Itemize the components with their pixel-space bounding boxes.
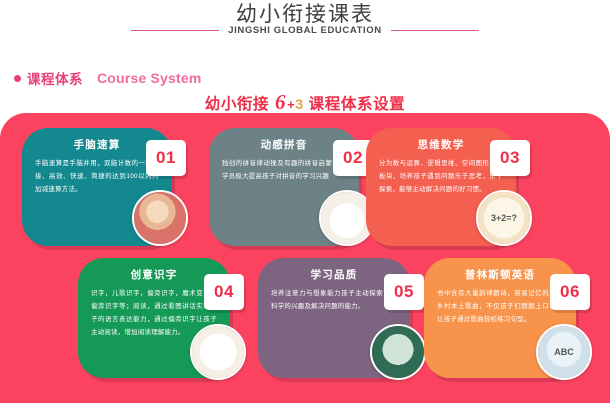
course-card[interactable]: 创意识字 识字，儿歌识字，偏旁识字，魔术变字，偏旁识字等；阅读，通过看图讲话实现… <box>78 258 258 378</box>
boy-thinking-photo <box>370 324 426 380</box>
card-number-badge: 06 <box>550 274 590 310</box>
course-card[interactable]: 手脑速算 手脑速算是手脑并用，双脑计数的一种直接、高效、快速、简捷的达到100以… <box>22 128 197 246</box>
card-number-badge: 01 <box>146 140 186 176</box>
bullet-dot-icon <box>14 75 21 82</box>
page-header: 幼小衔接课表 JINGSHI GLOBAL EDUCATION <box>0 0 610 48</box>
course-card[interactable]: 思维数学 分为数与运算、逻辑思维、空间图形三大板块，培养孩子遇到问题乐于思考，乐… <box>366 128 546 246</box>
course-card[interactable]: 动感拼音 独创的拼音律动操及有趣的拼音启蒙等教学员极大提高孩子对拼音的学习兴趣 … <box>209 128 384 246</box>
kids-abc-board-photo: ABC <box>536 324 592 380</box>
girl-counting-fingers-photo <box>132 190 188 246</box>
headline-six: 6 <box>274 90 287 114</box>
section-label-cn: 课程体系 <box>27 68 83 88</box>
course-card[interactable]: 学习品质 培养注意力与想象能力孩子主动探索自然科学的兴趣及解决问题的能力。 05 <box>258 258 438 378</box>
page-title: 幼小衔接课表 <box>0 0 610 28</box>
course-card[interactable]: 普林斯顿英语 书中含有大量韵律朗诗，容易记忆的美国乡村本土歌曲，不仅孩子们朗朗上… <box>424 258 604 378</box>
rule-left-divider <box>131 30 219 31</box>
section-label: 课程体系 Course System <box>14 68 202 88</box>
card-number-badge: 04 <box>204 274 244 310</box>
abc-label: ABC <box>554 347 574 357</box>
fox-character-card-photo <box>190 324 246 380</box>
headline-suffix: 课程体系设置 <box>309 96 406 113</box>
card-number-badge: 05 <box>384 274 424 310</box>
kids-math-3plus2-photo: 3+2=? <box>476 190 532 246</box>
brand-subtitle: JINGSHI GLOBAL EDUCATION <box>228 25 381 36</box>
section-label-en: Course System <box>97 70 202 86</box>
rule-right-divider <box>391 30 479 31</box>
math-equation-label: 3+2=? <box>491 213 517 223</box>
headline-prefix: 幼小衔接 <box>205 96 269 113</box>
card-number-badge: 03 <box>490 140 530 176</box>
subtitle-row: JINGSHI GLOBAL EDUCATION <box>0 25 610 36</box>
headline: 幼小衔接 6+3 课程体系设置 <box>0 90 610 115</box>
headline-three: 3 <box>295 96 303 112</box>
